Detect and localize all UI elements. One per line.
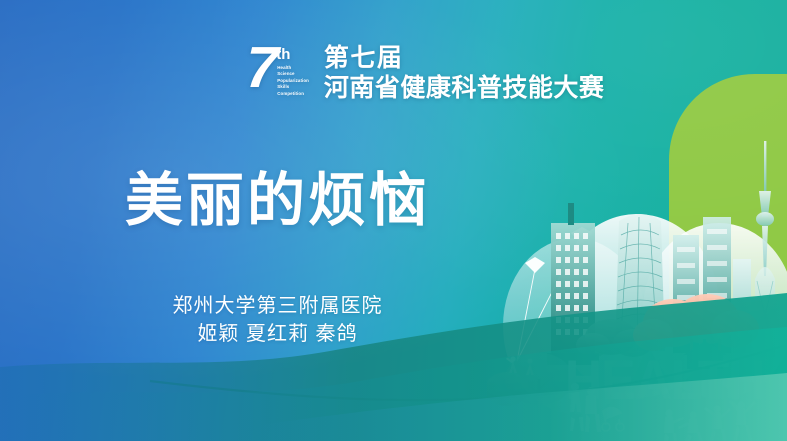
ordinal-number: 7	[245, 44, 276, 92]
english-line-2: Science	[277, 71, 309, 76]
presentation-slide: HEALTH	[0, 0, 787, 441]
competition-name: 河南省健康科普技能大赛	[324, 75, 605, 102]
english-line-5: Competition	[277, 91, 309, 96]
ordinal-suffix: th	[276, 47, 309, 62]
english-line-4: Skills	[277, 84, 309, 89]
presentation-title-text: 美丽的烦恼	[125, 168, 430, 235]
english-line-3: Popularization	[277, 78, 309, 83]
bottom-wave-decoration	[0, 261, 787, 441]
english-subtitle-stack: Health Science Popularization Skills Com…	[277, 65, 309, 96]
competition-edition: 第七届	[324, 45, 605, 72]
english-line-1: Health	[277, 65, 309, 70]
competition-logo-header: 7 th Health Science Popularization Skill…	[246, 44, 604, 102]
ordinal-logo: 7 th Health Science Popularization Skill…	[246, 44, 309, 96]
competition-title-block: 第七届 河南省健康科普技能大赛	[324, 45, 605, 102]
